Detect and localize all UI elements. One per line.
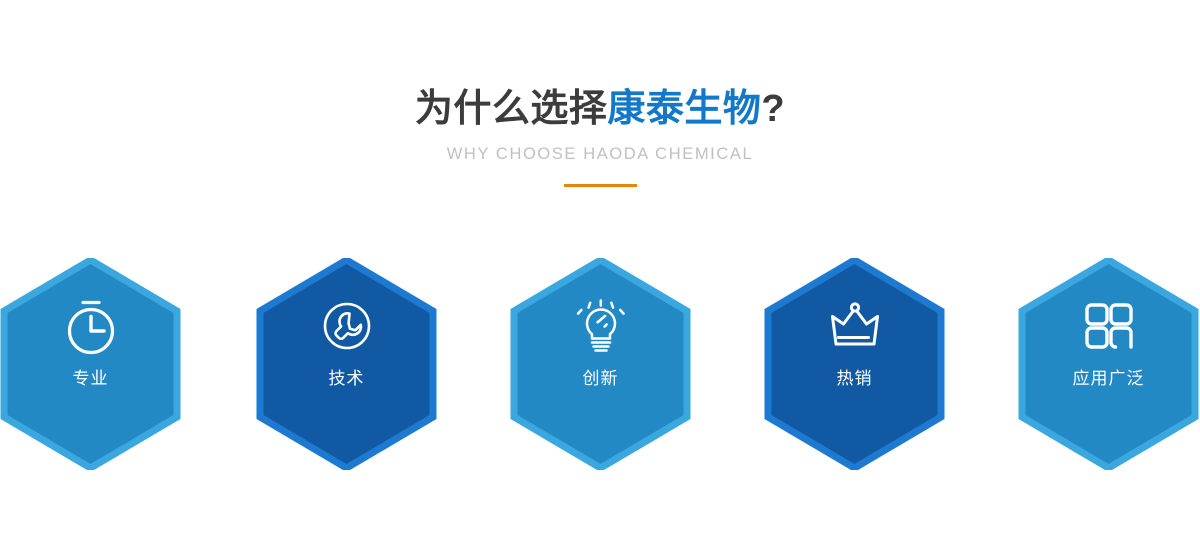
feature-card-content: 专业 — [0, 258, 181, 470]
grid-squares-icon — [1077, 294, 1141, 358]
feature-label: 热销 — [837, 369, 873, 389]
feature-hex-row: 专业 技术 — [0, 258, 1200, 473]
feature-card-content: 应用广泛 — [1018, 258, 1199, 470]
section-header: 为什么选择康泰生物? WHY CHOOSE HAODA CHEMICAL — [0, 0, 1200, 187]
page-title: 为什么选择康泰生物? — [0, 0, 1200, 131]
crown-icon — [823, 294, 887, 358]
feature-card-yingyongguangfan[interactable]: 应用广泛 — [1018, 258, 1199, 470]
feature-card-content: 技术 — [256, 258, 437, 470]
feature-card-content: 热销 — [764, 258, 945, 470]
page-subtitle: WHY CHOOSE HAODA CHEMICAL — [0, 131, 1200, 164]
feature-card-rexiao[interactable]: 热销 — [764, 258, 945, 470]
lightbulb-icon — [569, 294, 633, 358]
feature-card-chuangxin[interactable]: 创新 — [510, 258, 691, 470]
feature-label: 技术 — [329, 369, 365, 389]
feature-label: 专业 — [73, 369, 109, 389]
title-divider — [564, 184, 637, 187]
divider-wrap — [0, 164, 1200, 187]
stopwatch-icon — [59, 294, 123, 358]
feature-label: 应用广泛 — [1073, 369, 1145, 389]
page-title-accent: 康泰生物 — [607, 88, 761, 130]
page-title-suffix: ? — [761, 88, 785, 130]
feature-label: 创新 — [583, 369, 619, 389]
page-title-prefix: 为什么选择 — [415, 88, 608, 130]
wrench-circle-icon — [315, 294, 379, 358]
feature-card-content: 创新 — [510, 258, 691, 470]
feature-card-jishu[interactable]: 技术 — [256, 258, 437, 470]
feature-card-zhuanye[interactable]: 专业 — [0, 258, 181, 470]
